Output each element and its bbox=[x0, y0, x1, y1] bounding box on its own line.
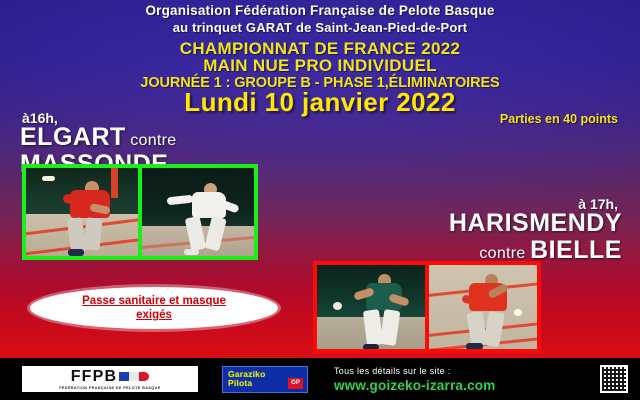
french-flag-icon bbox=[119, 372, 149, 381]
player-shoe bbox=[184, 249, 199, 255]
website-lead: Tous les détails sur le site : bbox=[334, 366, 495, 376]
match-2-player2: BIELLE bbox=[530, 236, 622, 264]
player-shoe bbox=[68, 249, 84, 256]
player-arm bbox=[167, 194, 194, 205]
match-2-player1: HARISMENDY bbox=[449, 209, 622, 237]
organisation-header: Organisation Fédération Française de Pel… bbox=[0, 3, 640, 35]
match-1-row1: ELGART contre bbox=[20, 124, 177, 150]
match-1-versus: contre bbox=[130, 132, 176, 149]
footer: FFPB FÉDÉRATION FRANÇAISE DE PELOTE BASQ… bbox=[0, 358, 640, 400]
player-shoe bbox=[363, 344, 379, 349]
match-1-player1: ELGART bbox=[20, 123, 126, 151]
match-2-row1: HARISMENDY bbox=[449, 210, 622, 236]
match-2-names: HARISMENDY contre BIELLE bbox=[449, 210, 622, 264]
health-notice: Passe sanitaire et masque exigés bbox=[30, 287, 278, 329]
player-shoe bbox=[466, 343, 483, 349]
health-notice-text: Passe sanitaire et masque exigés bbox=[66, 294, 242, 322]
health-notice-line1: Passe sanitaire et masque bbox=[82, 295, 226, 307]
ffpb-logo: FFPB FÉDÉRATION FRANÇAISE DE PELOTE BASQ… bbox=[22, 366, 198, 392]
website-url[interactable]: www.goizeko-izarra.com bbox=[334, 378, 495, 393]
photo-harismendy bbox=[317, 265, 425, 349]
player-leg bbox=[185, 216, 207, 251]
championship-line1: CHAMPIONNAT DE FRANCE 2022 bbox=[0, 40, 640, 57]
player-leg bbox=[204, 216, 227, 252]
player-figure bbox=[459, 273, 517, 347]
ffpb-acronym: FFPB bbox=[71, 369, 118, 385]
player-leg bbox=[83, 217, 102, 250]
player-leg bbox=[483, 311, 505, 347]
organisation-line1: Organisation Fédération Française de Pel… bbox=[145, 3, 494, 18]
poster: Organisation Fédération Française de Pel… bbox=[0, 0, 640, 400]
championship-title: CHAMPIONNAT DE FRANCE 2022 MAIN NUE PRO … bbox=[0, 40, 640, 90]
match-2-photos bbox=[313, 261, 541, 353]
player-figure bbox=[60, 179, 118, 253]
player-figure bbox=[358, 273, 414, 347]
ffpb-subtitle: FÉDÉRATION FRANÇAISE DE PELOTE BASQUE bbox=[59, 386, 160, 390]
garazi-badge-text: GP bbox=[291, 380, 300, 386]
player-leg bbox=[379, 309, 400, 346]
garazi-pilota-logo: Garaziko Pilota GP bbox=[222, 366, 308, 393]
garazi-badge-icon: GP bbox=[288, 378, 303, 389]
photo-bielle bbox=[429, 265, 537, 349]
match-2-row2: contre BIELLE bbox=[449, 237, 622, 263]
health-notice-line2: exigés bbox=[136, 309, 172, 321]
organisation-line2: au trinquet GARAT de Saint-Jean-Pied-de-… bbox=[0, 20, 640, 35]
qr-code-icon[interactable] bbox=[600, 365, 628, 393]
player-figure bbox=[180, 182, 240, 252]
qr-code-pattern bbox=[602, 367, 626, 391]
ffpb-logo-top: FFPB bbox=[71, 369, 150, 385]
photo-elgart bbox=[26, 168, 138, 256]
website-block: Tous les détails sur le site : www.goize… bbox=[334, 366, 495, 393]
photo-massonde bbox=[142, 168, 254, 256]
match-2-versus: contre bbox=[479, 245, 525, 262]
format-note: Parties en 40 points bbox=[500, 112, 618, 126]
championship-line2: MAIN NUE PRO INDIVIDUEL bbox=[0, 57, 640, 74]
match-1-photos bbox=[22, 164, 258, 260]
court-lamp bbox=[42, 176, 55, 181]
